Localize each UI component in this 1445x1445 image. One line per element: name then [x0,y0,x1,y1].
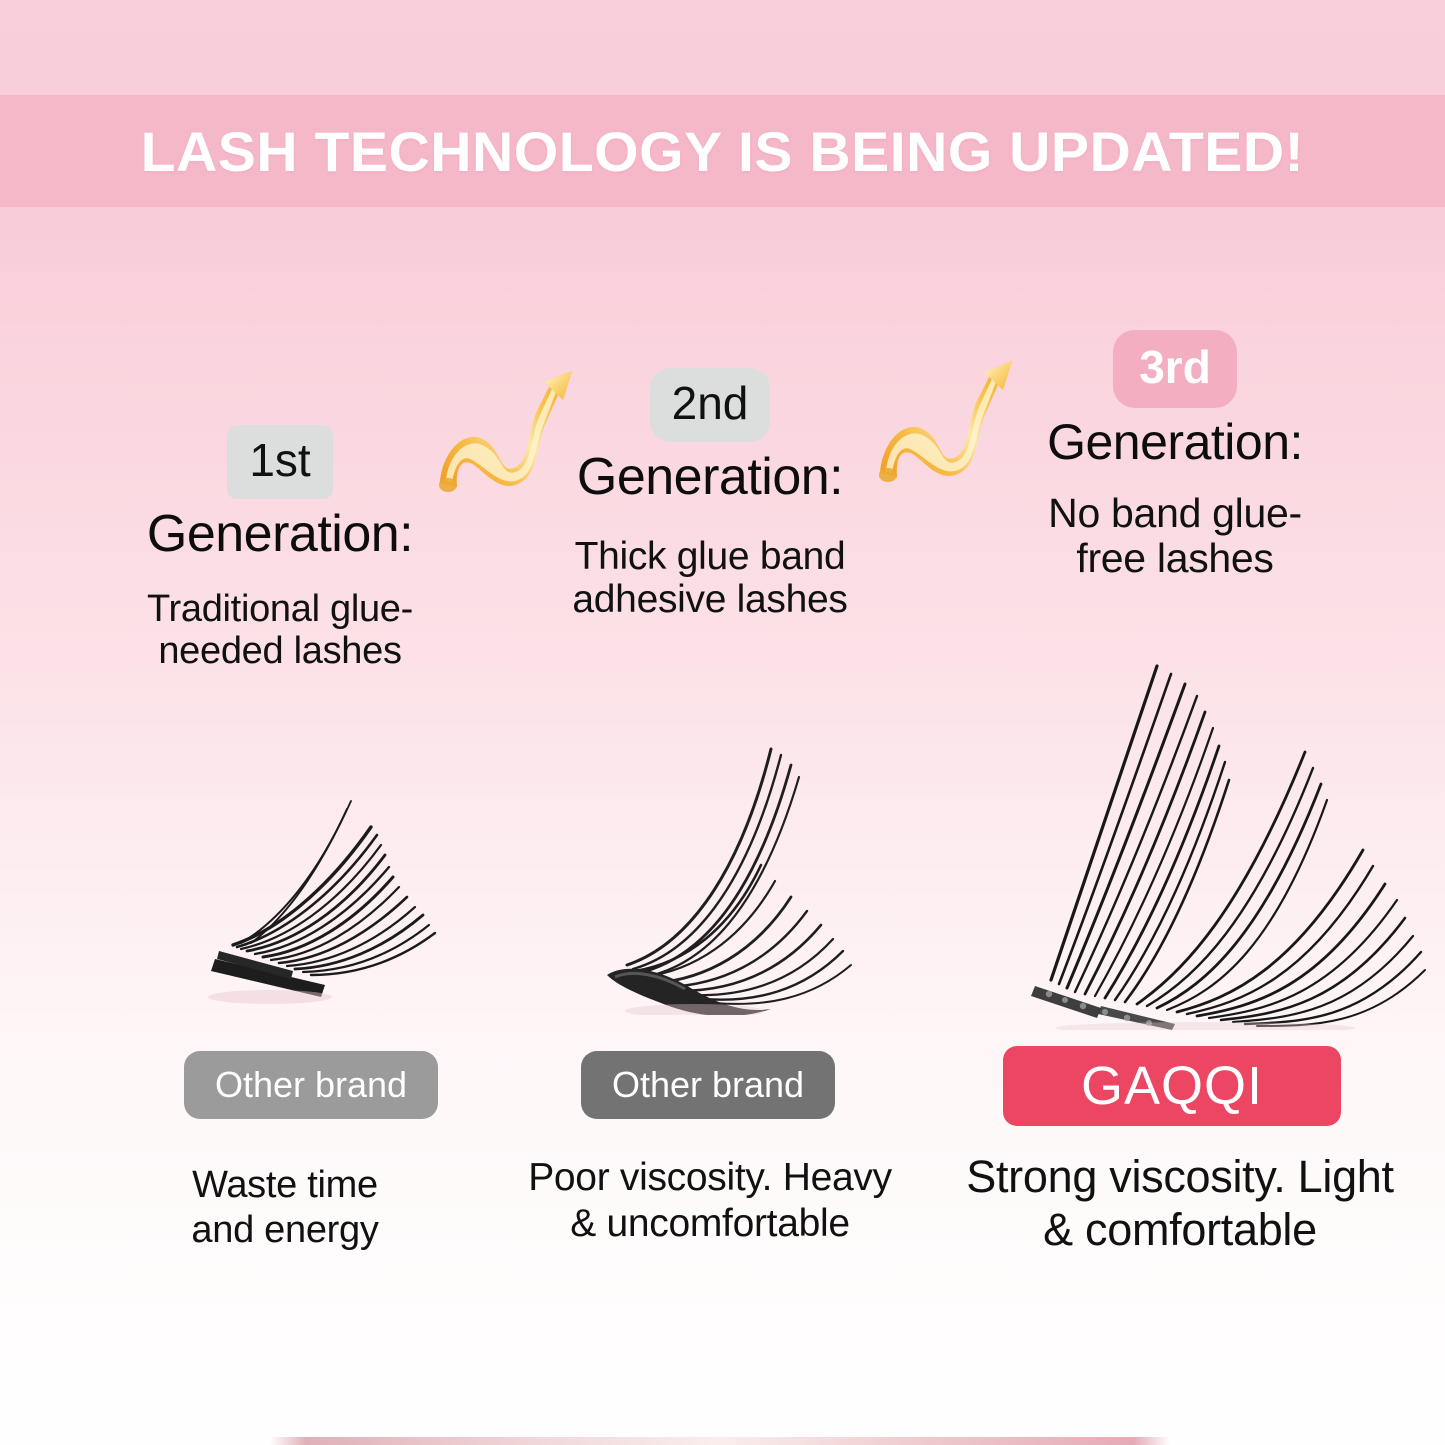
caption-line2: & comfortable [920,1203,1440,1256]
benefit-caption-second: Poor viscosity. Heavy & uncomfortable [505,1155,915,1247]
eyelash-cluster-icon [585,725,895,1015]
caption-line1: Poor viscosity. Heavy [505,1155,915,1201]
header-banner: LASH TECHNOLOGY IS BEING UPDATED! [0,95,1445,207]
bottom-edge-strip [270,1437,1170,1445]
caption-line2: & uncomfortable [505,1201,915,1247]
generation-column-third: 3rd Generation: No band glue- free lashe… [960,330,1390,582]
caption-line1: Strong viscosity. Light [920,1150,1440,1203]
benefit-caption-first: Waste time and energy [130,1163,440,1253]
generation-description: Thick glue band adhesive lashes [530,535,890,622]
page-title: LASH TECHNOLOGY IS BEING UPDATED! [141,119,1305,184]
generation-description-line2: free lashes [960,536,1390,582]
generation-description-line2: adhesive lashes [530,578,890,622]
generation-title: Generation: [95,507,465,562]
generation-description: No band glue- free lashes [960,491,1390,583]
generation-description: Traditional glue- needed lashes [95,588,465,673]
brand-badge-other-1: Other brand [184,1051,438,1119]
generation-title: Generation: [960,416,1390,469]
generation-badge-3rd: 3rd [1113,330,1237,408]
generation-description-line1: Thick glue band [530,535,890,579]
infographic-page: LASH TECHNOLOGY IS BEING UPDATED! [0,0,1445,1445]
generation-description-line1: Traditional glue- [95,588,465,631]
generation-badge-2nd: 2nd [650,368,771,442]
generation-description-line1: No band glue- [960,491,1390,537]
benefit-caption-third: Strong viscosity. Light & comfortable [920,1150,1440,1256]
caption-line1: Waste time [130,1163,440,1208]
generation-column-second: 2nd Generation: Thick glue band adhesive… [530,368,890,622]
brand-badge-other-2: Other brand [581,1051,835,1119]
generation-badge-1st: 1st [227,425,332,499]
brand-badge-gaqqi: GAQQI [1003,1046,1341,1126]
generation-description-line2: needed lashes [95,630,465,673]
eyelash-cluster-icon [1005,650,1435,1030]
generation-title: Generation: [530,450,890,505]
generation-column-first: 1st Generation: Traditional glue- needed… [95,425,465,673]
eyelash-cluster-icon [175,735,465,1005]
caption-line2: and energy [130,1208,440,1253]
